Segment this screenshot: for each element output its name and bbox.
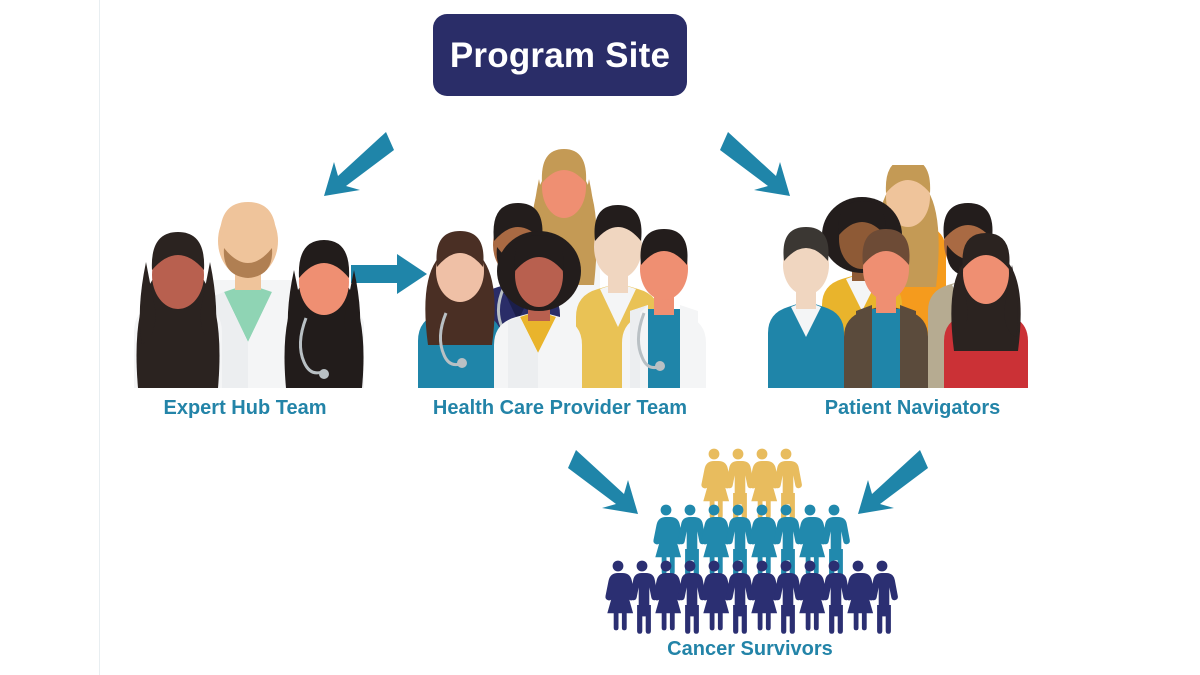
survivor-row-2 xyxy=(653,505,849,578)
expert-hub-team-illustration xyxy=(132,192,364,388)
label-expert-hub-team: Expert Hub Team xyxy=(110,398,380,418)
left-divider-rule xyxy=(99,0,100,675)
label-health-care-provider-team: Health Care Provider Team xyxy=(405,398,715,418)
page-title: Program Site xyxy=(450,38,670,73)
diagram-canvas: Program Site xyxy=(0,0,1200,675)
arrow-title-to-expert-icon xyxy=(312,128,396,200)
cancer-survivors-pictogram xyxy=(612,448,888,626)
label-patient-navigators: Patient Navigators xyxy=(755,398,1070,418)
figure-hcp-teal-scrubs xyxy=(418,231,502,388)
program-site-title-box: Program Site xyxy=(433,14,687,96)
patient-navigators-illustration xyxy=(766,165,1058,388)
health-care-provider-team-illustration xyxy=(416,145,708,388)
survivor-figure-male xyxy=(870,561,898,634)
figure-expert-right xyxy=(282,240,366,388)
label-cancer-survivors: Cancer Survivors xyxy=(585,639,915,659)
survivor-row-3 xyxy=(605,561,897,634)
figure-expert-left xyxy=(134,232,222,388)
